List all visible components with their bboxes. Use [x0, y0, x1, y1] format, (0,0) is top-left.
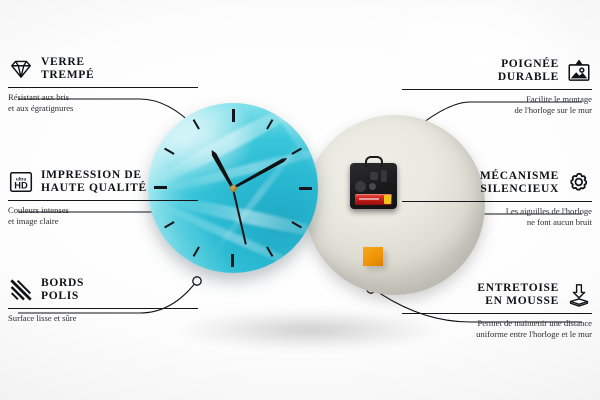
feature-subtitle: Résistant aux bris et aux égratignures [8, 92, 198, 113]
feature-header: MÉCANISME SILENCIEUX [402, 170, 592, 196]
feature-verre-trempe: VERRE TREMPÉ Résistant aux bris et aux é… [8, 56, 198, 113]
feature-subtitle: Surface lisse et sûre [8, 313, 198, 324]
feature-poignee-durable: POIGNÉE DURABLE Facilite le montage de l… [402, 58, 592, 115]
foam-spacer-icon [566, 282, 592, 308]
feature-header: VERRE TREMPÉ [8, 56, 198, 82]
feature-divider [402, 313, 592, 314]
clock-tick [233, 187, 318, 189]
battery-terminal [384, 195, 391, 204]
feature-title: IMPRESSION DE HAUTE QUALITÉ [41, 169, 147, 195]
hanger-tab-icon [365, 156, 383, 167]
gear-icon [566, 170, 592, 196]
diamond-icon [8, 56, 34, 82]
feature-divider [402, 201, 592, 202]
feature-title: ENTRETOISE EN MOUSSE [477, 282, 559, 308]
feature-header: BORDS POLIS [8, 277, 198, 303]
clock-center-cap [230, 185, 237, 192]
clock-movement [350, 163, 397, 209]
feature-subtitle: Les aiguilles de l'horloge ne font aucun… [402, 206, 592, 227]
feature-title: BORDS POLIS [41, 277, 84, 303]
feature-title: VERRE TREMPÉ [41, 56, 94, 82]
foam-spacer [363, 247, 383, 266]
movement-switch [381, 170, 387, 182]
movement-dial [355, 181, 366, 192]
clock-tick [232, 103, 234, 188]
svg-text:HD: HD [14, 181, 28, 191]
feature-mecanisme-silencieux: MÉCANISME SILENCIEUX Les aiguilles de l'… [402, 170, 592, 227]
movement-shaft [369, 183, 376, 190]
feature-divider [402, 89, 592, 90]
picture-hanger-icon [566, 58, 592, 84]
feature-title: POIGNÉE DURABLE [498, 58, 559, 84]
feature-entretoise-en-mousse: ENTRETOISE EN MOUSSE Permet de maintenir… [402, 282, 592, 339]
feature-title: MÉCANISME SILENCIEUX [480, 170, 559, 196]
feature-divider [8, 87, 198, 88]
feature-bords-polis: BORDS POLIS Surface lisse et sûre [8, 277, 198, 324]
feature-divider [8, 308, 198, 309]
feature-subtitle: Permet de maintenir une distance uniform… [402, 318, 592, 339]
polished-edges-icon [8, 277, 34, 303]
feature-subtitle: Facilite le montage de l'horloge sur le … [402, 94, 592, 115]
feature-impression-haute-qualite: ultra HD IMPRESSION DE HAUTE QUALITÉ Cou… [8, 169, 198, 226]
clock-tick [232, 188, 234, 273]
battery-stripe [359, 198, 379, 200]
battery [355, 194, 392, 205]
feature-header: ENTRETOISE EN MOUSSE [402, 282, 592, 308]
feature-subtitle: Couleurs intenses et image claire [8, 205, 198, 226]
feature-header: POIGNÉE DURABLE [402, 58, 592, 84]
ultra-hd-icon: ultra HD [8, 169, 34, 195]
feature-divider [8, 200, 198, 201]
product-infographic: VERRE TREMPÉ Résistant aux bris et aux é… [0, 0, 600, 400]
feature-header: ultra HD IMPRESSION DE HAUTE QUALITÉ [8, 169, 198, 195]
movement-knob [370, 172, 378, 180]
